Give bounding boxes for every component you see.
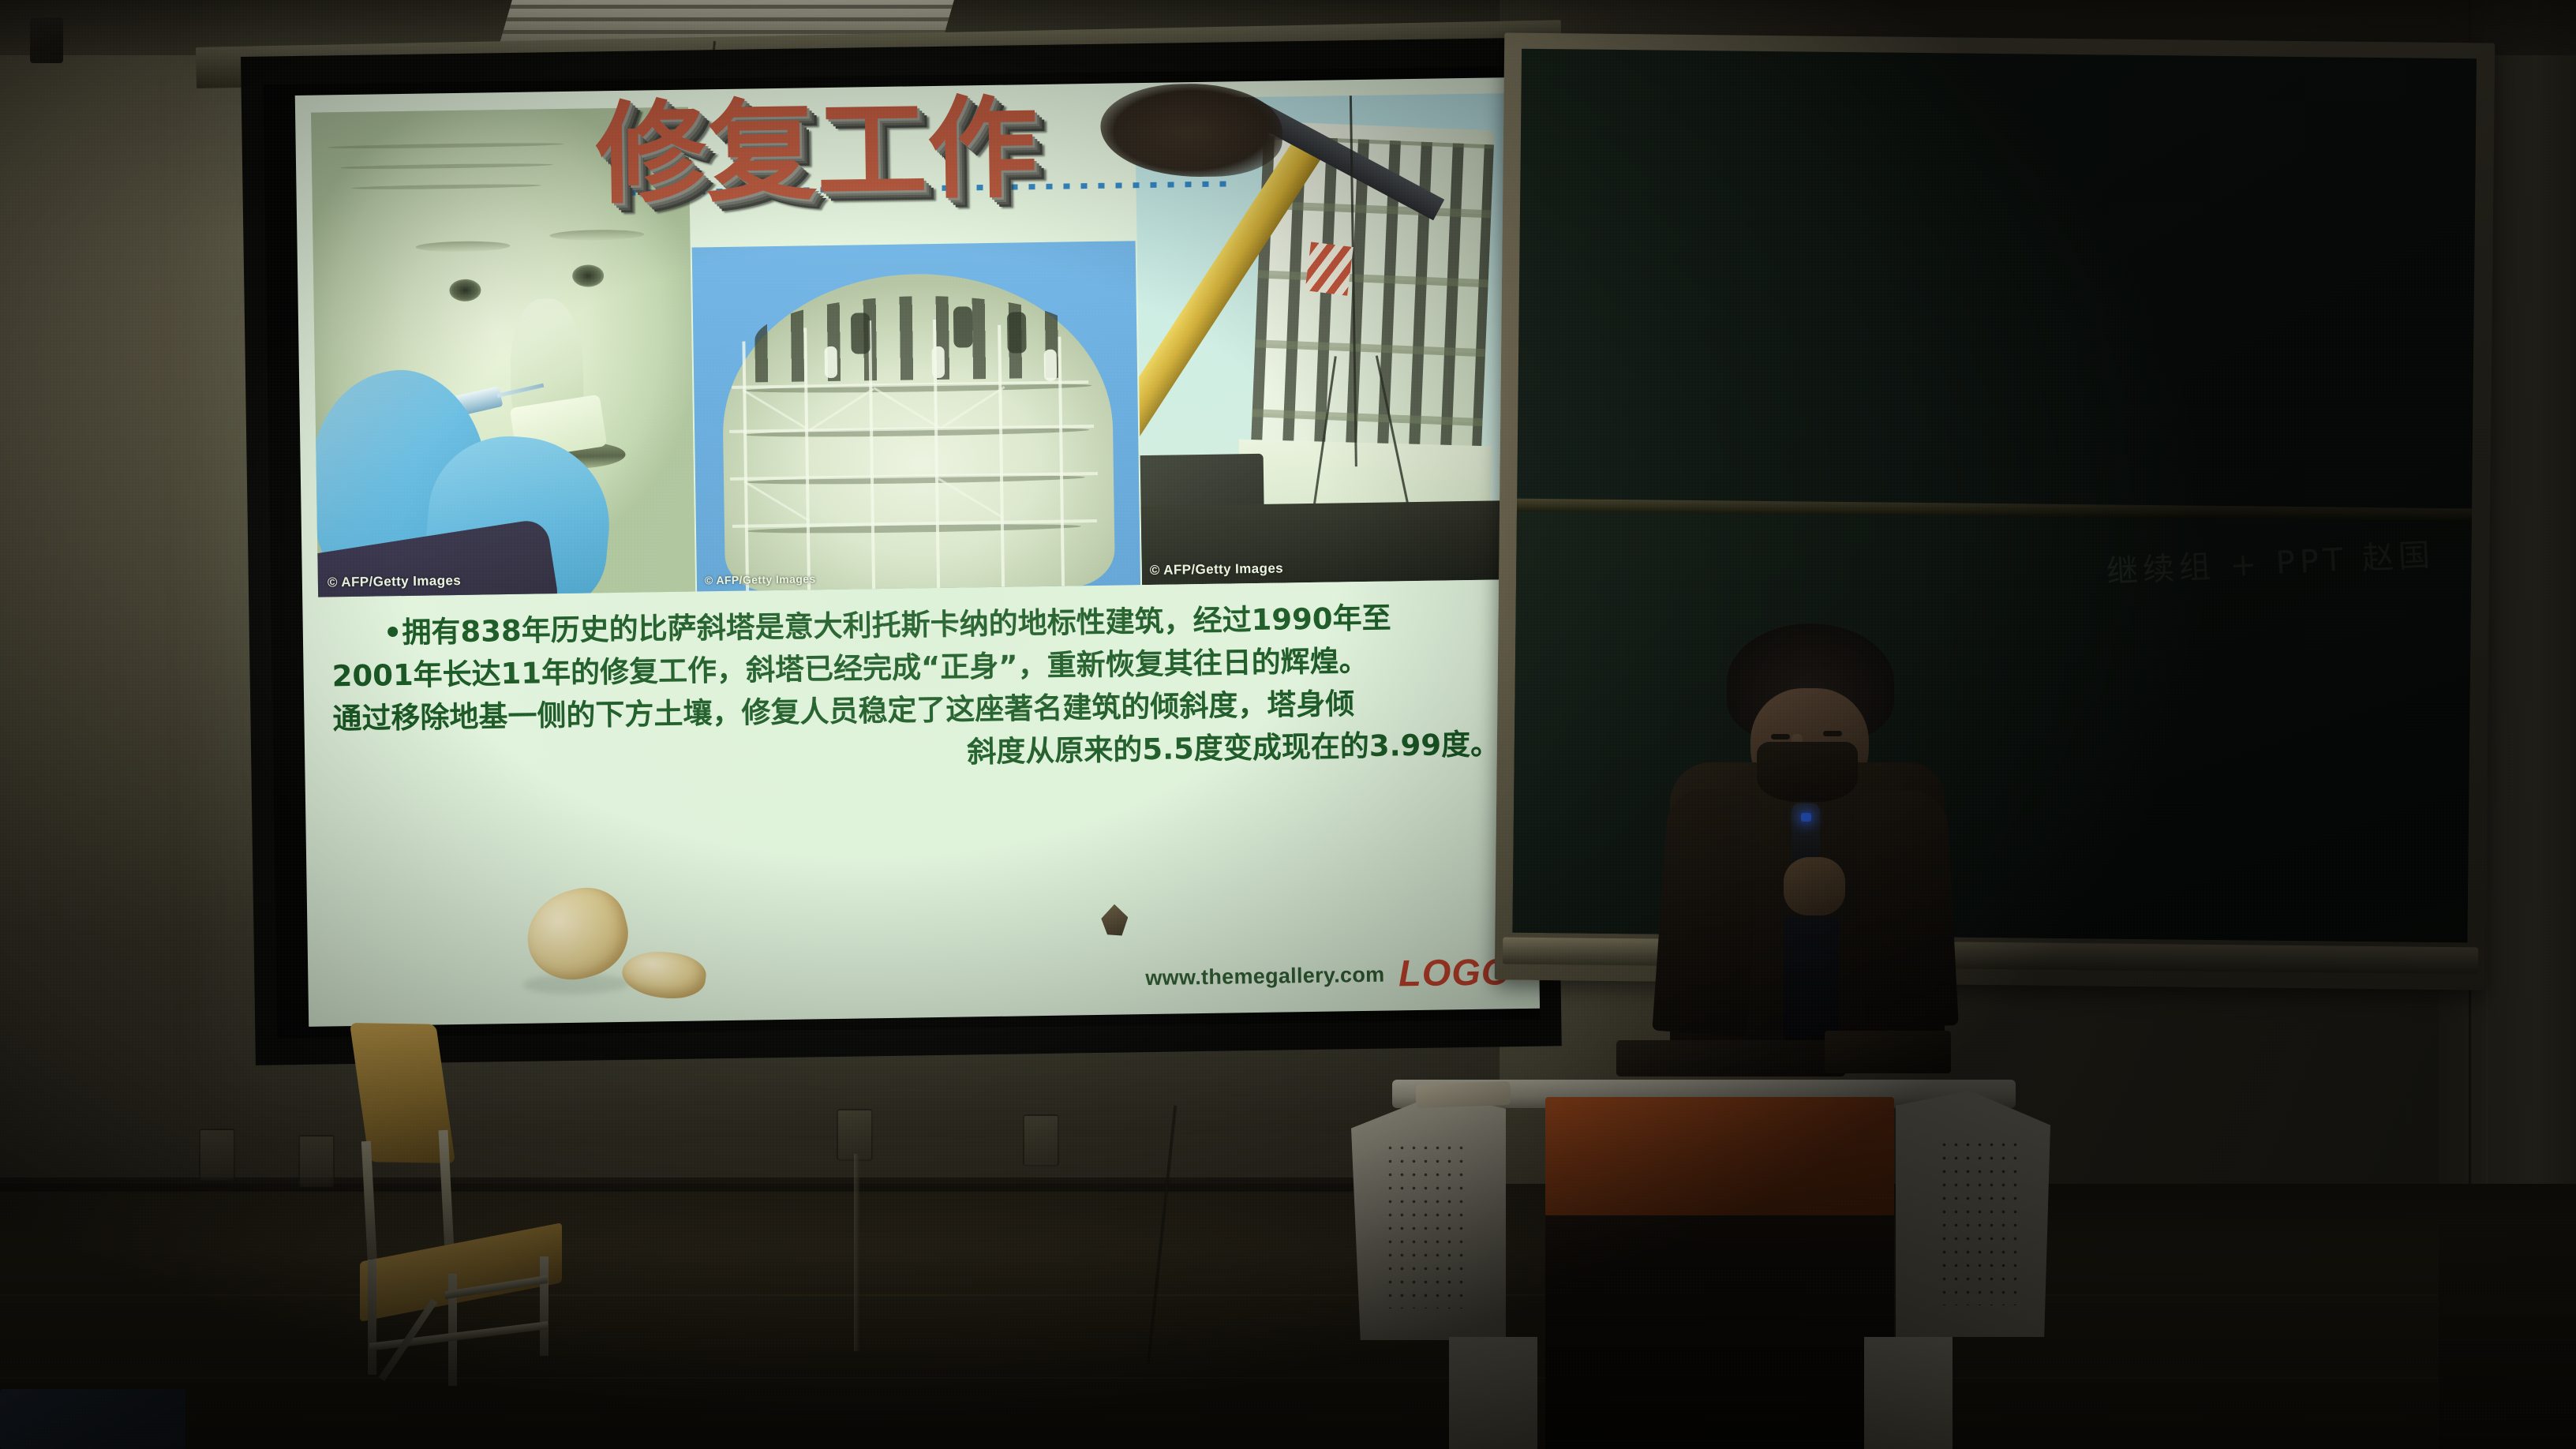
wall-mounted-box	[30, 17, 63, 63]
jacket-collar	[1757, 742, 1858, 802]
speaker-grille	[1384, 1141, 1465, 1309]
lectern	[1351, 1059, 2050, 1449]
screen-surface: © AFP/Getty Images	[264, 66, 1541, 1039]
wall-outlet[interactable]	[1023, 1114, 1059, 1166]
slide-title-block: 修复工作	[595, 88, 1229, 247]
chair-leg	[540, 1256, 549, 1356]
presenter	[1665, 623, 1949, 1065]
seed-decoration	[1101, 904, 1129, 936]
photo-credit: © AFP/Getty Images	[705, 572, 816, 586]
slide-body-text: •拥有838年历史的比萨斜塔是意大利托斯卡纳的地标性建筑，经过1990年至 20…	[331, 595, 1515, 810]
lectern-equipment	[1825, 1031, 1951, 1073]
photo-credit: © AFP/Getty Images	[328, 573, 462, 591]
powerpoint-slide: © AFP/Getty Images	[295, 77, 1540, 1027]
footer-url[interactable]: www.themegallery.com	[1145, 963, 1385, 990]
slide-photo-middle: © AFP/Getty Images	[692, 241, 1140, 591]
lectern-body	[1545, 1215, 1894, 1449]
presenter-hand	[1784, 857, 1845, 915]
worker	[1007, 312, 1027, 353]
photo-scene: Screen	[0, 0, 2576, 1449]
lectern-speaker-right	[1896, 1091, 2050, 1337]
chair-rail	[369, 1321, 548, 1351]
lectern-leg-left	[1449, 1337, 1537, 1449]
slide-title: 修复工作	[595, 94, 1039, 211]
chair-leg	[368, 1260, 376, 1375]
presenter-arm-left	[1652, 786, 1763, 1037]
slide-photo-strip: © AFP/Getty Images	[295, 77, 1533, 599]
worker	[1044, 350, 1058, 381]
striped-marker	[1305, 241, 1353, 295]
photo-credit: © AFP/Getty Images	[1150, 560, 1284, 578]
worker	[932, 346, 945, 378]
lectern-papers[interactable]	[1416, 1081, 1511, 1108]
wooden-chair[interactable]	[347, 1023, 584, 1376]
microphone-led-indicator	[1801, 813, 1811, 822]
lectern-speaker-left	[1351, 1094, 1506, 1340]
lectern-equipment	[1616, 1040, 1845, 1076]
speaker-grille	[1938, 1138, 2019, 1305]
floor-mat	[0, 1389, 185, 1449]
presenter-arm-right	[1853, 788, 1959, 1030]
blackboard	[1495, 32, 2495, 990]
worker	[851, 313, 871, 354]
conduit-pipe	[854, 1154, 859, 1351]
floor-right-edge	[2439, 1219, 2576, 1449]
wall-outlet[interactable]	[298, 1135, 335, 1187]
wall-outlet[interactable]	[199, 1129, 235, 1181]
lectern-front-panel	[1545, 1097, 1894, 1217]
slide-footer: www.themegallery.com LOGO	[308, 949, 1540, 1014]
lectern-leg-right	[1864, 1337, 1953, 1449]
projection-screen: © AFP/Getty Images	[241, 37, 1562, 1065]
chair-seat	[360, 1222, 562, 1322]
worker	[953, 306, 973, 347]
chalk-tray	[1503, 938, 2478, 975]
worker	[825, 346, 838, 378]
